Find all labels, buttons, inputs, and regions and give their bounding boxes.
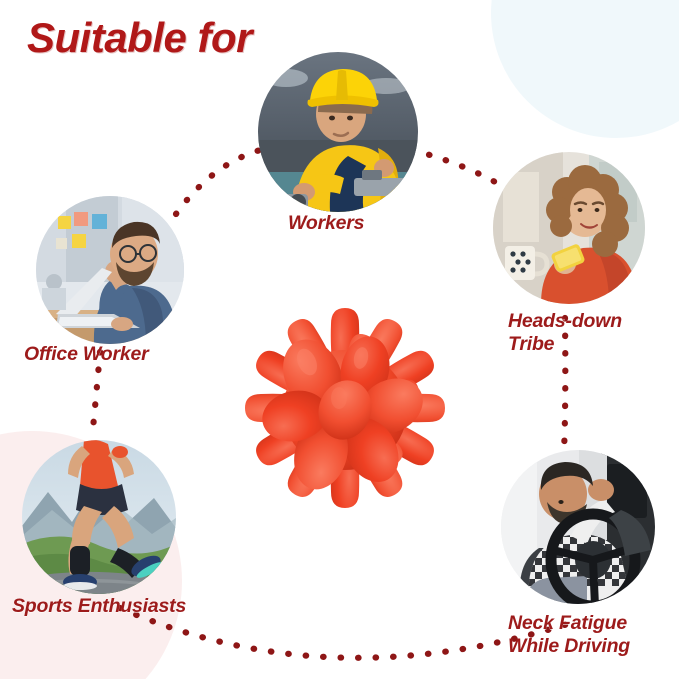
- office-worker-scene: [36, 196, 184, 344]
- label-neck-fatigue-driving: Neck Fatigue While Driving: [508, 612, 630, 657]
- spiky-massage-ball: [195, 258, 495, 558]
- connector-sports-to-driving: [120, 608, 574, 658]
- photo-runner-road: [22, 440, 176, 594]
- photo-office-worker-laptop: [36, 196, 184, 344]
- runner-scene: [22, 440, 176, 594]
- label-office-worker: Office Worker: [24, 343, 149, 366]
- suitable-for-infographic: Suitable for: [0, 0, 679, 679]
- page-title: Suitable for: [27, 14, 252, 62]
- connector-office-to-workers: [176, 148, 268, 214]
- photo-woman-phone: [493, 152, 645, 304]
- photo-worker-hard-hat: [258, 52, 418, 212]
- photo-driver-steering-wheel: [501, 450, 655, 604]
- driving-scene: [501, 450, 655, 604]
- label-sports-enthusiasts: Sports Enthusiasts: [12, 595, 186, 618]
- heads-down-scene: [493, 152, 645, 304]
- worker-scene: [258, 52, 418, 212]
- label-heads-down-tribe: Heads-down Tribe: [508, 310, 622, 355]
- label-workers: Workers: [288, 212, 364, 235]
